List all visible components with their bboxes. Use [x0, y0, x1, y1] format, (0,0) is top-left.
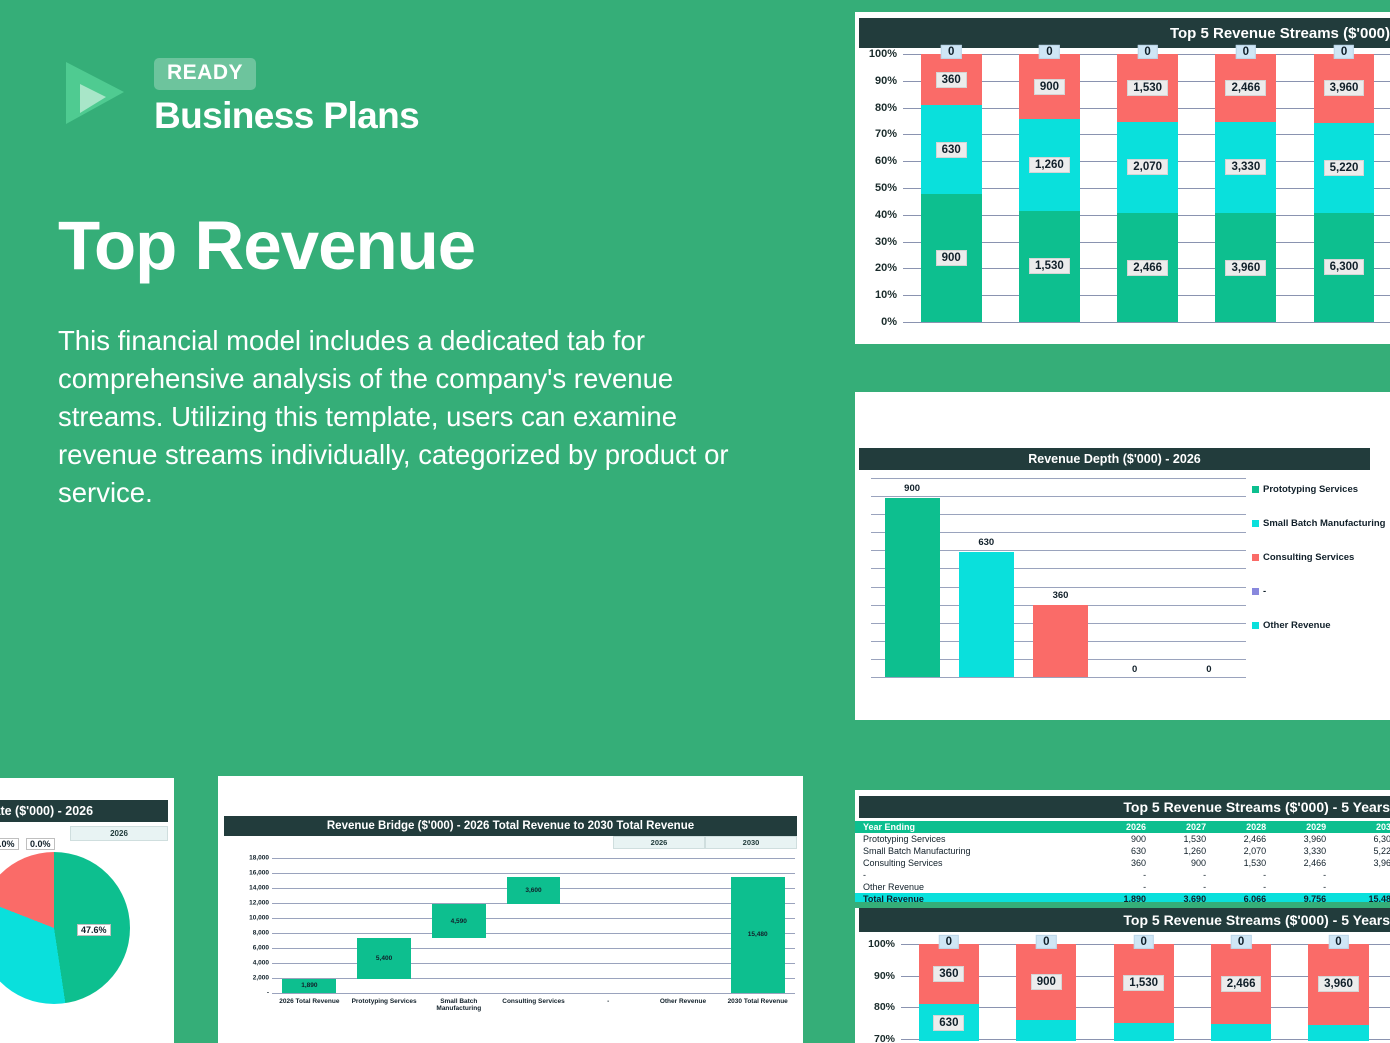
y-axis-revenue-bridge: - 2,000 4,000 6,000 8,000 10,000 12,000 … — [238, 858, 272, 993]
cell: 630 — [1090, 845, 1150, 857]
segment-label-consulting: 900 — [1034, 79, 1065, 95]
total-cell: 6,066 — [1210, 893, 1270, 902]
cell: 2,466 — [1210, 833, 1270, 845]
cell: - — [1090, 869, 1150, 881]
brand-lockup: READY Business Plans — [60, 52, 419, 137]
row-label: - — [855, 869, 1090, 881]
segment-label-consulting: 3,960 — [1318, 976, 1359, 992]
cell: - — [1270, 869, 1330, 881]
bar-value-label: 360 — [1053, 590, 1069, 601]
legend-label: Consulting Services — [1263, 552, 1354, 564]
table-row: Consulting Services 360 900 1,530 2,466 … — [855, 857, 1390, 869]
y-tick: 80% — [875, 102, 897, 114]
cell: 6,300 — [1330, 833, 1390, 845]
y-axis-top5-stacked: 0% 10% 20% 30% 40% 50% 60% 70% 80% 90% 1… — [855, 54, 903, 322]
brand-name: Business Plans — [154, 95, 419, 137]
segment-label-smallbatch: 3,330 — [1225, 159, 1266, 175]
ready-badge: READY — [154, 58, 256, 90]
bar-value-label: 630 — [978, 537, 994, 548]
pie-slice-label: 0.0% — [26, 838, 55, 850]
y-tick: 14,000 — [249, 884, 269, 891]
cell: - — [1210, 881, 1270, 893]
bar-column[interactable]: 900 — [875, 478, 949, 677]
segment-label-prototyping: 900 — [936, 250, 967, 266]
bar-column[interactable]: 0 360 630 — [907, 936, 1004, 1041]
page-title: Top Revenue — [58, 206, 475, 285]
segment-label-smallbatch: 2,070 — [1127, 159, 1168, 175]
bar-value-label: 0 — [1206, 664, 1211, 675]
bar-column[interactable]: 0 360 630 900 — [909, 54, 1007, 322]
table-header-row: Year Ending 2026 2027 2028 2029 2030 — [855, 821, 1390, 833]
cell: - — [1210, 869, 1270, 881]
row-label: Small Batch Manufacturing — [855, 845, 1090, 857]
y-tick: - — [267, 990, 269, 997]
y-tick: 60% — [875, 155, 897, 167]
y-tick: 40% — [875, 209, 897, 221]
segment-label-consulting: 360 — [936, 72, 967, 88]
bar-value-label: 3,600 — [525, 887, 541, 894]
bar-column[interactable]: 1,890 — [272, 858, 347, 993]
bar-column[interactable]: 0 2,466 — [1199, 936, 1296, 1041]
y-tick: 70% — [874, 1033, 895, 1043]
segment-label-smallbatch: 630 — [933, 1015, 964, 1031]
cell: 2,070 — [1210, 845, 1270, 857]
y-tick: 100% — [869, 48, 897, 60]
segment-zero-label: 0 — [939, 935, 959, 949]
bar-column[interactable] — [646, 858, 721, 993]
legend-revenue-depth: Prototyping Services Small Batch Manufac… — [1252, 484, 1390, 654]
chart-title-run-rate: Run-Rate ($'000) - 2026 — [0, 800, 168, 822]
cell: 3,960 — [1270, 833, 1330, 845]
segment-label-consulting: 360 — [933, 966, 964, 982]
y-tick: 70% — [875, 128, 897, 140]
play-triangle-icon — [60, 56, 136, 132]
col-header-2028: 2028 — [1210, 821, 1270, 833]
total-cell: 9,756 — [1270, 893, 1330, 902]
cell: 5,220 — [1330, 845, 1390, 857]
bar-value-label: 900 — [904, 483, 920, 494]
x-tick: Small Batch Manufacturing — [421, 998, 496, 1012]
bar-column[interactable]: 0 1,530 — [1102, 936, 1199, 1041]
segment-label-consulting: 3,960 — [1324, 80, 1365, 96]
y-tick: 6,000 — [253, 945, 269, 952]
x-tick: 2030 Total Revenue — [720, 998, 795, 1012]
chart-title-revenue-depth: Revenue Depth ($'000) - 2026 — [859, 448, 1370, 470]
bars-top5-stacked-bottom: 0 360 630 0 900 — [907, 936, 1390, 1041]
legend-swatch-icon — [1252, 486, 1259, 493]
table-row: Prototyping Services 900 1,530 2,466 3,9… — [855, 833, 1390, 845]
table-card-top5-5years: Top 5 Revenue Streams ($'000) - 5 Years … — [855, 790, 1390, 902]
chart-card-run-rate-pie: Run-Rate ($'000) - 2026 2026 0.0% 0.0% 1… — [0, 778, 174, 1043]
bar-column[interactable]: 0 900 1,260 1,530 — [1007, 54, 1105, 322]
cell: - — [1150, 881, 1210, 893]
col-header-year-ending: Year Ending — [855, 821, 1090, 833]
bar-column[interactable]: 360 — [1023, 478, 1097, 677]
y-axis-top5-stacked-bottom: 100% 90% 80% 70% — [855, 936, 901, 1041]
y-tick: 2,000 — [253, 975, 269, 982]
segment-zero-label: 0 — [941, 45, 961, 59]
bar-column[interactable]: 4,590 — [421, 858, 496, 993]
bar-value-label: 0 — [1132, 664, 1137, 675]
y-tick: 80% — [874, 1001, 895, 1013]
bar-column[interactable]: 3,600 — [496, 858, 571, 993]
segment-zero-label: 0 — [1231, 935, 1251, 949]
legend-label: - — [1263, 586, 1266, 598]
total-cell: 15,480 — [1330, 893, 1390, 902]
bars-revenue-depth: 900 630 360 0 — [871, 478, 1246, 677]
legend-swatch-icon — [1252, 588, 1259, 595]
legend-item[interactable]: Prototyping Services — [1252, 484, 1390, 496]
legend-item[interactable]: Small Batch Manufacturing — [1252, 518, 1390, 530]
segment-label-smallbatch: 1,260 — [1029, 157, 1070, 173]
segment-label-consulting: 2,466 — [1221, 976, 1262, 992]
bar-column[interactable]: 0 2,466 3,330 3,960 — [1204, 54, 1302, 322]
pie-slice-label: 0.0% — [0, 838, 19, 850]
plot-area-revenue-depth: 900 630 360 0 — [859, 478, 1390, 693]
segment-zero-label: 0 — [1334, 45, 1354, 59]
legend-label: Prototyping Services — [1263, 484, 1358, 496]
legend-item[interactable]: - — [1252, 586, 1390, 598]
y-tick: 12,000 — [249, 899, 269, 906]
y-tick: 0% — [881, 316, 897, 328]
table-total-row: Total Revenue 1,890 3,690 6,066 9,756 15… — [855, 893, 1390, 902]
y-tick: 20% — [875, 262, 897, 274]
y-tick: 30% — [875, 236, 897, 248]
y-tick: 90% — [874, 970, 895, 982]
total-label: Total Revenue — [855, 893, 1090, 902]
col-header-2029: 2029 — [1270, 821, 1330, 833]
revenue-table: Year Ending 2026 2027 2028 2029 2030 Pro… — [855, 821, 1390, 902]
bridge-start-year-selector[interactable]: 2026 — [613, 836, 705, 849]
bars-revenue-bridge: 1,890 5,400 4,590 3,600 — [272, 858, 795, 993]
table-row: Small Batch Manufacturing 630 1,260 2,07… — [855, 845, 1390, 857]
bar-value-label: 15,480 — [748, 931, 768, 938]
plot-area-run-rate-pie: 0.0% 0.0% 19.0% 47.6% — [0, 838, 174, 1028]
bars-top5-stacked: 0 360 630 900 0 900 — [909, 54, 1390, 322]
segment-label-smallbatch: 630 — [936, 142, 967, 158]
bridge-end-year-selector[interactable]: 2030 — [705, 836, 797, 849]
chart-card-revenue-depth: Revenue Depth ($'000) - 2026 900 — [855, 392, 1390, 720]
row-label: Consulting Services — [855, 857, 1090, 869]
cell: 1,260 — [1150, 845, 1210, 857]
segment-label-prototyping: 6,300 — [1324, 259, 1365, 275]
cell: 3,330 — [1270, 845, 1330, 857]
table-title-top5-5years: Top 5 Revenue Streams ($'000) - 5 Years — [859, 796, 1390, 818]
bar-column[interactable]: 5,400 — [347, 858, 422, 993]
total-cell: 1,890 — [1090, 893, 1150, 902]
chart-title-revenue-bridge: Revenue Bridge ($'000) - 2026 Total Reve… — [224, 816, 797, 836]
y-tick: 18,000 — [249, 855, 269, 862]
chart-title-top5-stacked-bottom: Top 5 Revenue Streams ($'000) - 5 Years — [859, 908, 1390, 932]
cell: - — [1330, 869, 1390, 881]
segment-label-consulting: 1,530 — [1123, 975, 1164, 991]
x-tick: Consulting Services — [496, 998, 571, 1012]
y-tick: 10% — [875, 289, 897, 301]
segment-zero-label: 0 — [1039, 45, 1059, 59]
segment-zero-label: 0 — [1137, 45, 1157, 59]
x-tick: - — [571, 998, 646, 1012]
col-header-2030: 2030 — [1330, 821, 1390, 833]
plot-area-revenue-bridge: - 2,000 4,000 6,000 8,000 10,000 12,000 … — [238, 858, 795, 993]
plot-area-top5-stacked: 0% 10% 20% 30% 40% 50% 60% 70% 80% 90% 1… — [855, 54, 1390, 322]
y-tick: 100% — [868, 938, 895, 950]
legend-swatch-icon — [1252, 554, 1259, 561]
pie-slice-label: 47.6% — [77, 924, 111, 936]
legend-swatch-icon — [1252, 520, 1259, 527]
y-tick: 16,000 — [249, 869, 269, 876]
bar-column[interactable]: 0 3,960 5,220 6,300 — [1302, 54, 1390, 322]
x-axis-revenue-bridge: 2026 Total Revenue Prototyping Services … — [272, 998, 795, 1012]
y-tick: 50% — [875, 182, 897, 194]
cell: 900 — [1090, 833, 1150, 845]
chart-card-revenue-bridge: Revenue Bridge ($'000) - 2026 Total Reve… — [218, 776, 803, 1043]
segment-label-prototyping: 3,960 — [1225, 260, 1266, 276]
bar-value-label: 1,890 — [301, 982, 317, 989]
bridge-year-selectors: 2026 2030 — [613, 836, 797, 849]
bar-value-label: 5,400 — [376, 955, 392, 962]
y-tick: 90% — [875, 75, 897, 87]
bar-column[interactable]: 0 1,530 2,070 2,466 — [1105, 54, 1203, 322]
col-header-2026: 2026 — [1090, 821, 1150, 833]
table-row: Other Revenue - - - - - — [855, 881, 1390, 893]
segment-label-prototyping: 2,466 — [1127, 260, 1168, 276]
y-tick: 4,000 — [253, 960, 269, 967]
cell: - — [1090, 881, 1150, 893]
cell: - — [1330, 881, 1390, 893]
cell: 3,960 — [1330, 857, 1390, 869]
segment-label-consulting: 2,466 — [1225, 80, 1266, 96]
x-tick: 2026 Total Revenue — [272, 998, 347, 1012]
cell: 1,530 — [1210, 857, 1270, 869]
bar-column[interactable]: 15,480 — [720, 858, 795, 993]
segment-label-consulting: 1,530 — [1127, 80, 1168, 96]
cell: 1,530 — [1150, 833, 1210, 845]
chart-card-top5-stacked: Top 5 Revenue Streams ($'000) 0% 10% 20%… — [855, 12, 1390, 344]
bar-column[interactable]: 0 — [1098, 478, 1172, 677]
segment-zero-label: 0 — [1328, 935, 1348, 949]
row-label: Prototyping Services — [855, 833, 1090, 845]
cell: 2,466 — [1270, 857, 1330, 869]
bar-column[interactable]: 0 — [1172, 478, 1246, 677]
segment-label-consulting: 900 — [1031, 974, 1062, 990]
x-tick: Prototyping Services — [347, 998, 422, 1012]
legend-item[interactable]: Other Revenue — [1252, 620, 1390, 632]
cell: - — [1270, 881, 1330, 893]
bar-column[interactable]: 0 900 — [1004, 936, 1101, 1041]
segment-zero-label: 0 — [1133, 935, 1153, 949]
y-tick: 8,000 — [253, 930, 269, 937]
legend-label: Other Revenue — [1263, 620, 1331, 632]
plot-area-top5-stacked-bottom: 100% 90% 80% 70% 0 360 630 — [855, 936, 1390, 1041]
bar-value-label: 4,590 — [451, 918, 467, 925]
col-header-2027: 2027 — [1150, 821, 1210, 833]
cell: 900 — [1150, 857, 1210, 869]
chart-title-top5-stacked: Top 5 Revenue Streams ($'000) — [859, 18, 1390, 48]
cell: - — [1150, 869, 1210, 881]
x-tick: Other Revenue — [646, 998, 721, 1012]
legend-item[interactable]: Consulting Services — [1252, 552, 1390, 564]
bar-column[interactable] — [571, 858, 646, 993]
total-cell: 3,690 — [1150, 893, 1210, 902]
row-label: Other Revenue — [855, 881, 1090, 893]
legend-swatch-icon — [1252, 622, 1259, 629]
page-description: This financial model includes a dedicate… — [58, 322, 758, 512]
brand-text: READY Business Plans — [154, 52, 419, 137]
legend-label: Small Batch Manufacturing — [1263, 518, 1385, 530]
segment-label-prototyping: 1,530 — [1029, 258, 1070, 274]
segment-zero-label: 0 — [1036, 935, 1056, 949]
segment-zero-label: 0 — [1236, 45, 1256, 59]
bar-column[interactable]: 630 — [949, 478, 1023, 677]
y-tick: 10,000 — [249, 914, 269, 921]
chart-card-top5-stacked-bottom: Top 5 Revenue Streams ($'000) - 5 Years … — [855, 908, 1390, 1043]
bar-column[interactable]: 0 3,960 — [1297, 936, 1390, 1041]
segment-label-smallbatch: 5,220 — [1324, 160, 1365, 176]
cell: 360 — [1090, 857, 1150, 869]
table-row: - - - - - - — [855, 869, 1390, 881]
